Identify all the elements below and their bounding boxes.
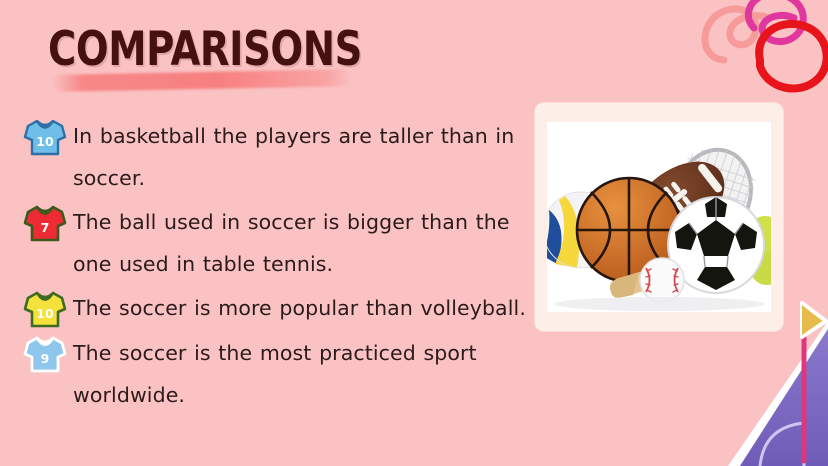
list-item-label: The soccer is the most practiced sport w… [73, 332, 532, 416]
list-item: 9 The soccer is the most practiced sport… [22, 332, 532, 416]
slide-canvas: COMPARISONS 10 In basketball the players… [0, 0, 828, 466]
list-item: 7 The ball used in soccer is bigger than… [22, 201, 532, 285]
list-item: 10 The soccer is more popular than volle… [22, 287, 532, 330]
svg-text:7: 7 [41, 220, 50, 235]
svg-text:10: 10 [36, 134, 54, 149]
jersey-icon: 7 [22, 202, 68, 244]
svg-text:9: 9 [41, 351, 50, 366]
list-item: 10 In basketball the players are taller … [22, 115, 532, 199]
list-item-label: In basketball the players are taller tha… [73, 115, 532, 199]
jersey-icon: 10 [22, 116, 68, 158]
list-item-label: The ball used in soccer is bigger than t… [73, 201, 532, 285]
sports-equipment-illustration [547, 122, 771, 312]
baseball-icon [640, 258, 684, 302]
jersey-icon: 10 [22, 288, 68, 330]
page-title-text: COMPARISONS [48, 22, 362, 78]
sports-equipment-photo [547, 122, 771, 312]
list-item-label: The soccer is more popular than volleyba… [73, 287, 532, 329]
image-frame [535, 103, 783, 331]
scribble-loops-icon [684, 0, 828, 108]
jersey-icon: 9 [22, 333, 68, 375]
page-title: COMPARISONS [48, 22, 478, 94]
svg-text:10: 10 [36, 306, 54, 321]
comparison-list: 10 In basketball the players are taller … [22, 115, 532, 418]
